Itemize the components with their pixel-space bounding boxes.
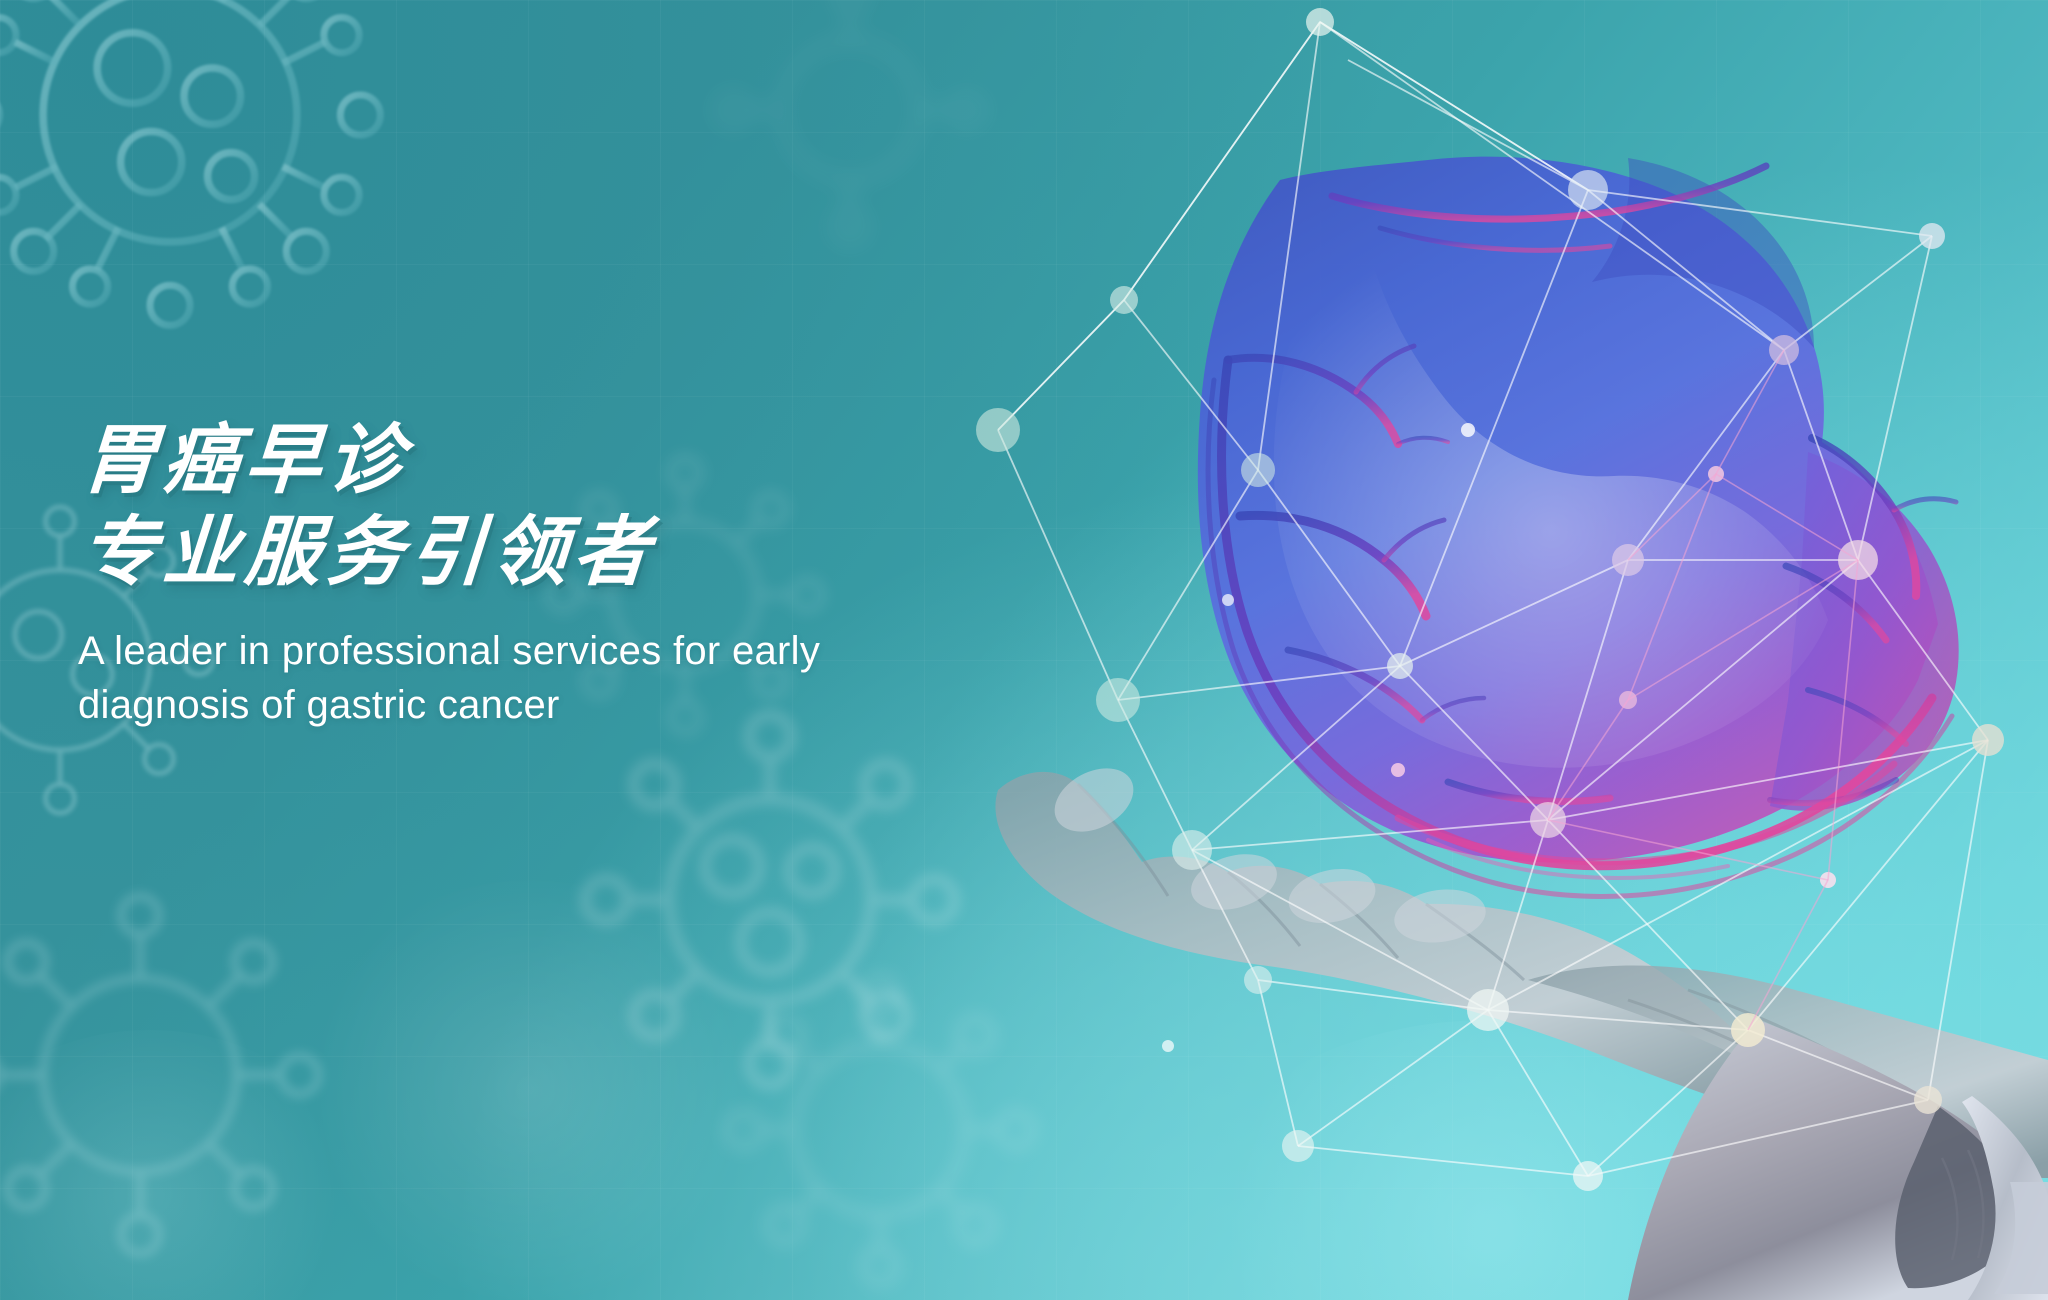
lab-coat-sleeve <box>1618 1020 2048 1300</box>
coronavirus-particle-watermark-icon <box>700 0 1000 260</box>
light-bloom <box>0 1030 360 1300</box>
stomach-in-hand-illustration <box>928 0 2048 1300</box>
headline-english-block: A leader in professional services for ea… <box>78 624 820 732</box>
banner-hero: 胃癌早诊 专业服务引领者 A leader in professional se… <box>0 0 2048 1300</box>
light-bloom <box>300 880 760 1300</box>
open-hand-illustration <box>995 756 2048 1300</box>
headline-chinese-line-1: 胃癌早诊 <box>78 418 826 504</box>
headline-english-line-1: A leader in professional services for ea… <box>78 624 820 678</box>
headline-chinese-line-2: 专业服务引领者 <box>78 510 826 596</box>
polygonal-network-mesh-overlay <box>976 8 2004 1191</box>
stomach-organ-illustration <box>1198 157 1959 897</box>
coronavirus-particle-watermark-icon <box>0 860 350 1290</box>
headline-english-line-2: diagnosis of gastric cancer <box>78 678 820 732</box>
hero-headline-block: 胃癌早诊 专业服务引领者 A leader in professional se… <box>78 418 820 732</box>
coronavirus-particle-watermark-icon <box>0 0 430 350</box>
coronavirus-particle-watermark-icon <box>700 960 1060 1300</box>
light-bloom <box>1180 1020 1800 1300</box>
coronavirus-particle-watermark-icon <box>560 690 980 1110</box>
